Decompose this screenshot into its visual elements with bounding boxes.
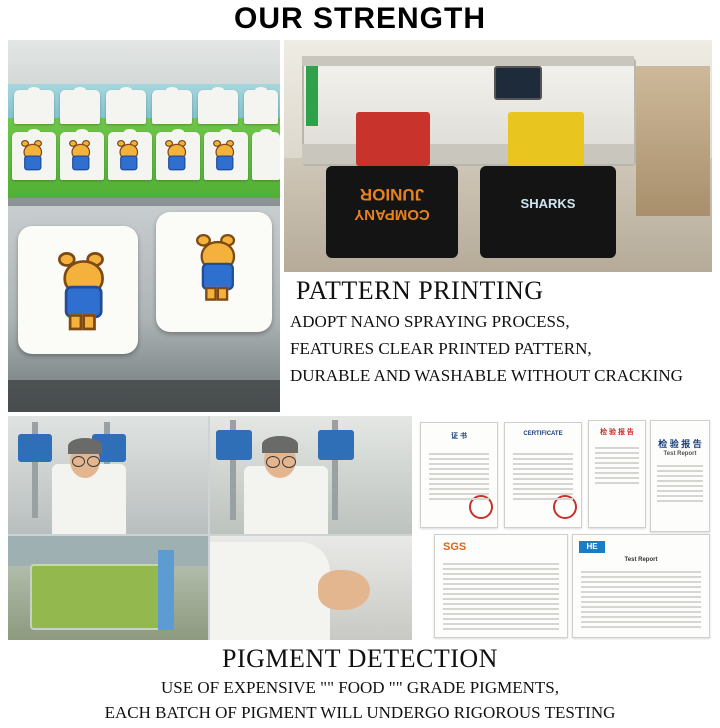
conveyor-rail (8, 198, 280, 206)
photo-shirt-conveyor (8, 40, 280, 412)
bull-mascot-icon (213, 140, 234, 160)
small-shirt (14, 90, 54, 124)
small-shirt (244, 90, 278, 124)
photo-laboratory (8, 416, 412, 640)
small-shirt (60, 132, 104, 180)
small-shirt (156, 132, 200, 180)
he-report-lines (581, 571, 701, 631)
he-report: HE Test Report (572, 534, 710, 638)
small-shirt (60, 90, 100, 124)
large-shirt (156, 212, 272, 332)
pigment-detection-block: PIGMENT DETECTION USE OF EXPENSIVE "" FO… (0, 644, 720, 728)
poster-page: OUR STRENGTH (0, 0, 720, 720)
small-shirt (252, 132, 280, 180)
certificate-1: 证 书 (420, 422, 498, 528)
lab-photo-left-top (8, 416, 208, 534)
printer-top-rail (302, 56, 634, 66)
lab-mixer (318, 430, 354, 460)
lab-coat-sleeve (210, 542, 330, 640)
yellow-print-panel (508, 112, 584, 166)
print-text-sharks: SHARKS (480, 196, 616, 211)
certificate-4: 检 验 报 告 Test Report (650, 420, 710, 532)
glasses-icon (72, 456, 85, 467)
certificate-4-title: 检 验 报 告 (651, 437, 709, 450)
technician-hair (68, 438, 102, 454)
pattern-line-3: DURABLE AND WASHABLE WITHOUT CRACKING (290, 366, 714, 386)
certificate-4-subtitle: Test Report (651, 451, 709, 457)
small-shirt (12, 132, 56, 180)
he-logo: HE (579, 541, 605, 553)
bull-mascot-icon (69, 140, 90, 160)
bull-mascot-icon (196, 234, 235, 294)
pigment-line-2: EACH BATCH OF PIGMENT WILL UNDERGO RIGOR… (0, 703, 720, 723)
small-shirt (152, 90, 192, 124)
certificate-2-title: CERTIFICATE (505, 431, 581, 437)
technician-hair (262, 436, 298, 453)
printer-side-cabinet (636, 66, 710, 216)
conveyor-shadow (8, 380, 280, 412)
pigment-line-1: USE OF EXPENSIVE "" FOOD "" GRADE PIGMEN… (0, 678, 720, 698)
glasses-icon (87, 456, 100, 467)
lab-mixer (216, 430, 252, 460)
bull-mascot-icon (58, 252, 104, 322)
lab-equipment (158, 550, 174, 630)
certificate-3: 检 验 报 告 (588, 420, 646, 528)
platen-shirt-sharks: SHARKS (480, 166, 616, 258)
glasses-icon (266, 456, 280, 468)
technician-hand (318, 570, 370, 610)
certificate-1-lines (429, 453, 489, 503)
certificate-3-lines (595, 447, 639, 487)
bull-mascot-icon (117, 140, 138, 160)
certificate-2-lines (513, 453, 573, 503)
large-shirt (18, 226, 138, 354)
red-print-panel (356, 112, 430, 166)
printer-base-rail (302, 144, 634, 164)
pattern-line-1: ADOPT NANO SPRAYING PROCESS, (290, 312, 714, 332)
printer-control-screen (494, 66, 542, 100)
certificate-1-title: 证 书 (421, 431, 497, 441)
sgs-report-lines (443, 563, 559, 633)
pattern-printing-block: PATTERN PRINTING ADOPT NANO SPRAYING PRO… (290, 276, 714, 412)
he-report-title: Test Report (573, 557, 709, 563)
bull-mascot-icon (21, 140, 42, 160)
lab-photo-left-bottom (8, 536, 208, 640)
photo-dtg-printer: JUNIOR COMPANY SHARKS (284, 40, 712, 272)
pigment-heading: PIGMENT DETECTION (0, 644, 720, 674)
certificate-4-lines (657, 465, 703, 505)
certificate-2: CERTIFICATE (504, 422, 582, 528)
small-shirt (106, 90, 146, 124)
small-shirt (108, 132, 152, 180)
platen-shirt-junior: JUNIOR COMPANY (326, 166, 458, 258)
lab-shelf (8, 536, 208, 566)
small-shirt (198, 90, 238, 124)
lab-mixer (18, 434, 52, 462)
print-text-junior: JUNIOR (326, 184, 458, 204)
certificate-3-title: 检 验 报 告 (589, 427, 645, 437)
sgs-report: SGS (434, 534, 568, 638)
page-title: OUR STRENGTH (0, 0, 720, 38)
pattern-line-2: FEATURES CLEAR PRINTED PATTERN, (290, 339, 714, 359)
sgs-logo: SGS (443, 541, 466, 553)
glasses-icon (282, 456, 296, 468)
lab-photo-right-top (210, 416, 412, 534)
photo-certificates: 证 书 CERTIFICATE 检 验 报 告 检 验 报 告 Test Rep… (414, 416, 712, 640)
pattern-heading: PATTERN PRINTING (296, 276, 714, 306)
bull-mascot-icon (165, 140, 186, 160)
small-shirt (204, 132, 248, 180)
green-pigment-beaker (30, 564, 164, 630)
lab-photo-right-bottom (210, 536, 412, 640)
printer-green-panel (306, 66, 318, 126)
print-text-company: COMPANY (326, 206, 458, 223)
